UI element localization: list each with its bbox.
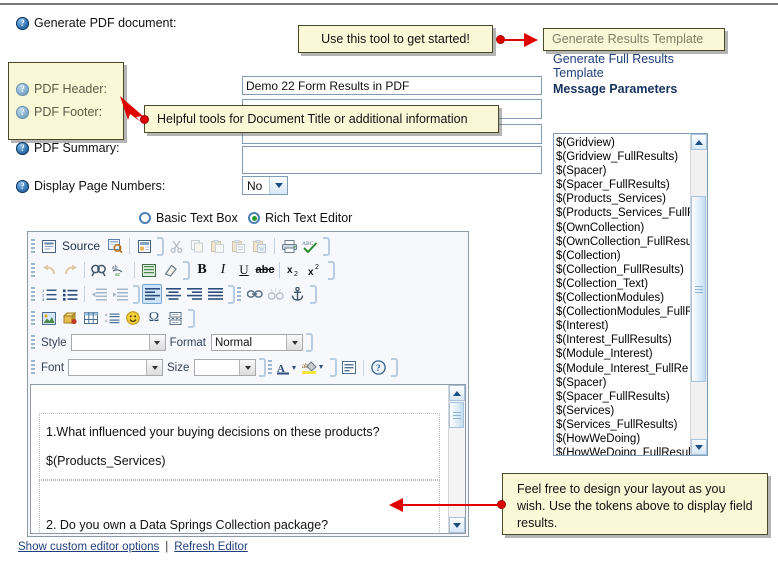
- format-label: Format: [170, 337, 206, 349]
- help-icon[interactable]: ?: [16, 83, 29, 96]
- svg-text:?: ?: [376, 364, 381, 374]
- toolbar-group-size: Size: [165, 358, 268, 377]
- rich-text-editor-radio-option[interactable]: Rich Text Editor: [248, 211, 352, 225]
- cut-icon[interactable]: [166, 236, 186, 256]
- token-list-scrollbar[interactable]: [690, 134, 707, 455]
- radio-label-rich: Rich Text Editor: [265, 211, 352, 225]
- select-value: No: [247, 179, 262, 193]
- question-2-text: 2. Do you own a Data Springs Collection …: [46, 515, 433, 534]
- style-combobox[interactable]: [71, 334, 166, 351]
- bold-icon[interactable]: B: [192, 260, 212, 280]
- chevron-down-icon[interactable]: [149, 335, 165, 350]
- toolbar-group-edit: abac: [39, 260, 192, 280]
- toolbar-group-document: Source: [39, 236, 166, 256]
- callout-helpful-tools: Helpful tools for Document Title or addi…: [144, 105, 499, 133]
- scroll-up-icon[interactable]: [449, 385, 465, 401]
- toolbar-group-format: B I U abc x2 x2: [192, 260, 337, 280]
- question-block-1[interactable]: 1.What influenced your buying decisions …: [39, 413, 440, 480]
- token-list-items[interactable]: $(Gridview)$(Gridview_FullResults)$(Spac…: [554, 134, 690, 455]
- smiley-icon[interactable]: [123, 308, 143, 328]
- align-justify-icon[interactable]: [205, 284, 225, 304]
- arrow-head-left-icon: [389, 498, 403, 512]
- generate-results-template-highlight[interactable]: Generate Results Template: [543, 28, 725, 51]
- italic-icon[interactable]: I: [213, 260, 233, 280]
- text-color-icon[interactable]: A: [276, 358, 300, 378]
- paste-text-icon[interactable]: [229, 236, 249, 256]
- svg-text:ABC: ABC: [302, 241, 314, 247]
- rich-text-editor[interactable]: Source: [27, 231, 469, 537]
- scrollbar-thumb[interactable]: [449, 402, 464, 428]
- toolbar-group-format-select: Format Normal: [168, 333, 315, 352]
- token-item[interactable]: $(HowWeDoing_FullResul: [556, 446, 690, 455]
- size-combobox[interactable]: [194, 359, 256, 376]
- token-item[interactable]: $(Module_Interest): [556, 347, 690, 361]
- svg-text:W: W: [259, 247, 265, 253]
- token-item[interactable]: $(Products_Services): [556, 192, 690, 206]
- align-right-icon[interactable]: [184, 284, 204, 304]
- callout-design-layout-text: Feel free to design your layout as you w…: [517, 482, 753, 530]
- callout-pdf-header-footer-panel: [8, 62, 124, 140]
- print-icon[interactable]: [279, 236, 299, 256]
- basic-text-box-radio-option[interactable]: Basic Text Box: [139, 211, 238, 225]
- label-pdf-header: ? PDF Header:: [16, 82, 107, 96]
- help-icon[interactable]: ?: [16, 142, 29, 155]
- token-item[interactable]: $(Products_Services_FullR: [556, 206, 690, 220]
- copy-icon[interactable]: [187, 236, 207, 256]
- svg-text:2: 2: [294, 271, 298, 277]
- about-icon[interactable]: ?: [368, 358, 388, 378]
- radio-basic-text-box[interactable]: [139, 212, 151, 224]
- help-icon[interactable]: ?: [16, 180, 29, 193]
- radio-label-basic: Basic Text Box: [156, 211, 238, 225]
- paste-icon[interactable]: [208, 236, 228, 256]
- token-item[interactable]: $(Spacer): [556, 376, 690, 390]
- table-icon[interactable]: [81, 308, 101, 328]
- pdf-summary-textarea[interactable]: [242, 146, 542, 174]
- callout-get-started: Use this tool to get started!: [298, 25, 493, 53]
- pdf-title-input[interactable]: [242, 76, 542, 95]
- label-text: PDF Footer:: [34, 105, 102, 119]
- token-item[interactable]: $(OwnCollection_FullResu: [556, 235, 690, 249]
- generate-results-template-link[interactable]: Generate Results Template: [552, 31, 703, 48]
- token-item[interactable]: $(HowWeDoing): [556, 432, 690, 446]
- token-item[interactable]: $(Collection): [556, 249, 690, 263]
- token-1-text: $(Products_Services): [46, 451, 433, 471]
- display-page-numbers-select[interactable]: No: [242, 176, 288, 195]
- label-display-page-numbers: ? Display Page Numbers:: [16, 179, 165, 193]
- token-item[interactable]: $(Interest_FullResults): [556, 333, 690, 347]
- refresh-editor-link[interactable]: Refresh Editor: [174, 541, 248, 553]
- select-all-icon[interactable]: [139, 260, 159, 280]
- preview-icon[interactable]: [105, 236, 125, 256]
- align-left-icon[interactable]: [142, 284, 162, 304]
- toolbar-grip[interactable]: [31, 287, 35, 302]
- toolbar-grip[interactable]: [237, 287, 241, 302]
- callout-design-layout: Feel free to design your layout as you w…: [502, 473, 768, 535]
- svg-text:x: x: [287, 265, 293, 276]
- token-item[interactable]: $(OwnCollection): [556, 221, 690, 235]
- token-item[interactable]: $(CollectionModules_FullR: [556, 305, 690, 319]
- special-char-icon[interactable]: Ω: [144, 308, 164, 328]
- source-icon[interactable]: [39, 236, 59, 256]
- scrollbar-thumb[interactable]: [691, 196, 706, 382]
- source-label[interactable]: Source: [60, 239, 104, 253]
- replace-icon[interactable]: abac: [110, 260, 130, 280]
- arrow-head-right-icon: [524, 33, 538, 47]
- style-label: Style: [41, 337, 67, 349]
- toolbar-row-1: Source: [28, 234, 468, 258]
- arrow-line: [403, 504, 499, 506]
- label-pdf-summary: ? PDF Summary:: [16, 141, 119, 155]
- chevron-down-icon[interactable]: [239, 360, 255, 375]
- label-text: PDF Header:: [34, 82, 107, 96]
- token-item[interactable]: $(CollectionModules): [556, 291, 690, 305]
- toolbar-group-links: [245, 284, 319, 304]
- radio-rich-text-editor[interactable]: [248, 212, 260, 224]
- font-label: Font: [41, 362, 64, 374]
- editor-scrollbar[interactable]: [448, 385, 465, 533]
- link-separator: |: [165, 541, 168, 553]
- callout-get-started-text: Use this tool to get started!: [321, 31, 470, 48]
- show-blocks-icon[interactable]: [339, 358, 359, 378]
- generate-full-results-template-link-line2[interactable]: Template: [553, 65, 604, 81]
- toolbar-row-5: Style Format Normal: [28, 330, 468, 355]
- align-center-icon[interactable]: [163, 284, 183, 304]
- toolbar-grip[interactable]: [31, 263, 35, 278]
- chevron-down-icon[interactable]: [146, 360, 162, 375]
- toolbar-grip[interactable]: [31, 360, 35, 375]
- toolbar-group-clipboard: W ABC: [166, 236, 332, 256]
- toolbar-group-insert: AA Ω: [39, 308, 197, 328]
- editor-toolbars: Source: [28, 232, 468, 380]
- token-item[interactable]: $(Gridview): [556, 136, 690, 150]
- decrease-indent-icon[interactable]: [89, 284, 109, 304]
- horizontal-rule-icon[interactable]: AA: [102, 308, 122, 328]
- token-item[interactable]: $(Module_Interest_FullRe: [556, 362, 690, 376]
- templates-icon[interactable]: [134, 236, 154, 256]
- toolbar-grip[interactable]: [268, 360, 272, 375]
- token-item[interactable]: $(Spacer_FullResults): [556, 390, 690, 404]
- token-item[interactable]: $(Interest): [556, 319, 690, 333]
- help-icon[interactable]: ?: [16, 17, 29, 30]
- label-text: Display Page Numbers:: [34, 179, 165, 193]
- unlink-icon[interactable]: [266, 284, 286, 304]
- arrow-line: [503, 39, 526, 41]
- undo-icon[interactable]: [39, 260, 59, 280]
- token-item[interactable]: $(Collection_FullResults): [556, 263, 690, 277]
- show-custom-editor-options-link[interactable]: Show custom editor options: [18, 541, 159, 553]
- label-text: Generate PDF document:: [34, 16, 176, 30]
- svg-text:3: 3: [42, 297, 45, 301]
- format-value: Normal: [215, 337, 252, 349]
- redo-icon[interactable]: [60, 260, 80, 280]
- strikethrough-icon[interactable]: abc: [255, 260, 275, 280]
- token-listbox[interactable]: $(Gridview)$(Gridview_FullResults)$(Spac…: [553, 133, 708, 456]
- toolbar-grip[interactable]: [31, 335, 35, 350]
- token-item[interactable]: $(Spacer_FullResults): [556, 178, 690, 192]
- svg-text:A: A: [105, 319, 108, 323]
- chevron-down-icon[interactable]: [269, 177, 287, 194]
- paste-word-icon[interactable]: W: [250, 236, 270, 256]
- callout-helpful-tools-text: Helpful tools for Document Title or addi…: [157, 111, 468, 128]
- top-divider: [0, 3, 778, 5]
- label-generate-pdf-document: ? Generate PDF document:: [16, 16, 176, 30]
- subscript-icon[interactable]: x2: [284, 260, 304, 280]
- anchor-icon[interactable]: [287, 284, 307, 304]
- toolbar-row-3: 123: [28, 282, 468, 306]
- superscript-icon[interactable]: x2: [305, 260, 325, 280]
- svg-text:x: x: [308, 267, 314, 277]
- toolbar-grip[interactable]: [31, 239, 35, 254]
- background-color-icon[interactable]: ab: [301, 358, 327, 378]
- underline-icon[interactable]: U: [234, 260, 254, 280]
- scroll-down-icon[interactable]: [691, 439, 707, 455]
- token-item[interactable]: $(Services): [556, 404, 690, 418]
- token-item[interactable]: $(Services_FullResults): [556, 418, 690, 432]
- editor-canvas[interactable]: 1.What influenced your buying decisions …: [31, 385, 448, 533]
- toolbar-group-align: [142, 284, 237, 304]
- toolbar-group-lists: 123: [39, 284, 142, 304]
- page-break-icon[interactable]: [165, 308, 185, 328]
- chevron-down-icon[interactable]: [286, 335, 302, 350]
- help-icon[interactable]: ?: [16, 106, 29, 119]
- scroll-down-icon[interactable]: [449, 517, 465, 533]
- font-combobox[interactable]: [68, 359, 163, 376]
- question-block-2[interactable]: 2. Do you own a Data Springs Collection …: [39, 480, 440, 534]
- token-item[interactable]: $(Gridview_FullResults): [556, 150, 690, 164]
- size-label: Size: [167, 362, 189, 374]
- toolbar-row-4: AA Ω: [28, 306, 468, 330]
- image-icon[interactable]: [39, 308, 59, 328]
- toolbar-row-6: Font Size A ab: [28, 355, 468, 380]
- link-icon[interactable]: [245, 284, 265, 304]
- find-icon[interactable]: [89, 260, 109, 280]
- flash-icon[interactable]: [60, 308, 80, 328]
- increase-indent-icon[interactable]: [110, 284, 130, 304]
- spellcheck-icon[interactable]: ABC: [300, 236, 320, 256]
- svg-text:A: A: [105, 313, 108, 317]
- format-combobox[interactable]: Normal: [211, 334, 303, 351]
- scroll-up-icon[interactable]: [691, 134, 707, 150]
- editor-footer-links: Show custom editor options | Refresh Edi…: [18, 541, 248, 553]
- svg-text:2: 2: [315, 264, 319, 271]
- toolbar-group-colors: A ab: [276, 358, 339, 378]
- label-pdf-footer: ? PDF Footer:: [16, 105, 102, 119]
- numbered-list-icon[interactable]: 123: [39, 284, 59, 304]
- token-item[interactable]: $(Spacer): [556, 164, 690, 178]
- token-item[interactable]: $(Collection_Text): [556, 277, 690, 291]
- question-1-text: 1.What influenced your buying decisions …: [46, 422, 433, 442]
- remove-format-icon[interactable]: [160, 260, 180, 280]
- editor-content-area[interactable]: 1.What influenced your buying decisions …: [30, 384, 466, 534]
- message-parameters-link[interactable]: Message Parameters: [553, 81, 677, 97]
- toolbar-grip[interactable]: [31, 311, 35, 326]
- label-text: PDF Summary:: [34, 141, 119, 155]
- toolbar-group-tools: ?: [339, 358, 400, 378]
- toolbar-row-2: abac B I U abc x2 x2: [28, 258, 468, 282]
- svg-text:ac: ac: [115, 272, 121, 277]
- bulleted-list-icon[interactable]: [60, 284, 80, 304]
